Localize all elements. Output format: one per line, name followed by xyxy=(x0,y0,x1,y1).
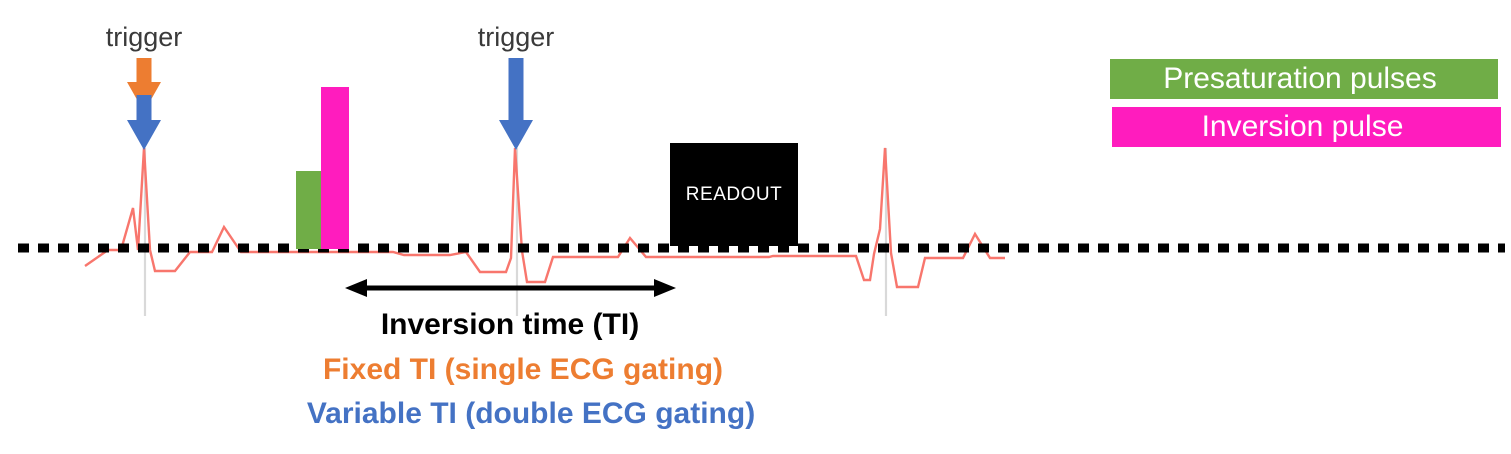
legend-presaturation: Presaturation pulses xyxy=(1110,59,1498,99)
caption-inversion-time: Inversion time (TI) xyxy=(110,310,910,340)
blue-trigger-arrow xyxy=(127,95,161,150)
ecg-trace xyxy=(85,148,1005,287)
inversion-time-arrow-head-left xyxy=(345,279,367,297)
trigger-label-1: trigger xyxy=(54,24,234,51)
legend-inversion-label: Inversion pulse xyxy=(1202,112,1404,142)
caption-variable-ti: Variable TI (double ECG gating) xyxy=(131,399,931,429)
legend-inversion: Inversion pulse xyxy=(1112,107,1501,147)
legend-presaturation-label: Presaturation pulses xyxy=(1163,64,1437,94)
blue-trigger-arrow xyxy=(499,58,533,150)
mri-pulse-sequence-diagram: trigger trigger READOUT Presaturation pu… xyxy=(0,0,1511,454)
readout-label: READOUT xyxy=(686,184,782,206)
trigger-label-2: trigger xyxy=(426,24,606,51)
inversion-time-arrow-head-right xyxy=(654,279,676,297)
readout-block: READOUT xyxy=(670,143,798,246)
caption-fixed-ti: Fixed TI (single ECG gating) xyxy=(123,355,923,385)
inversion-time-arrow-shaft xyxy=(365,286,656,291)
inversion-time-arrow xyxy=(345,279,676,297)
inversion-pulse-bar xyxy=(321,87,349,249)
presaturation-pulse-bar xyxy=(296,171,321,249)
